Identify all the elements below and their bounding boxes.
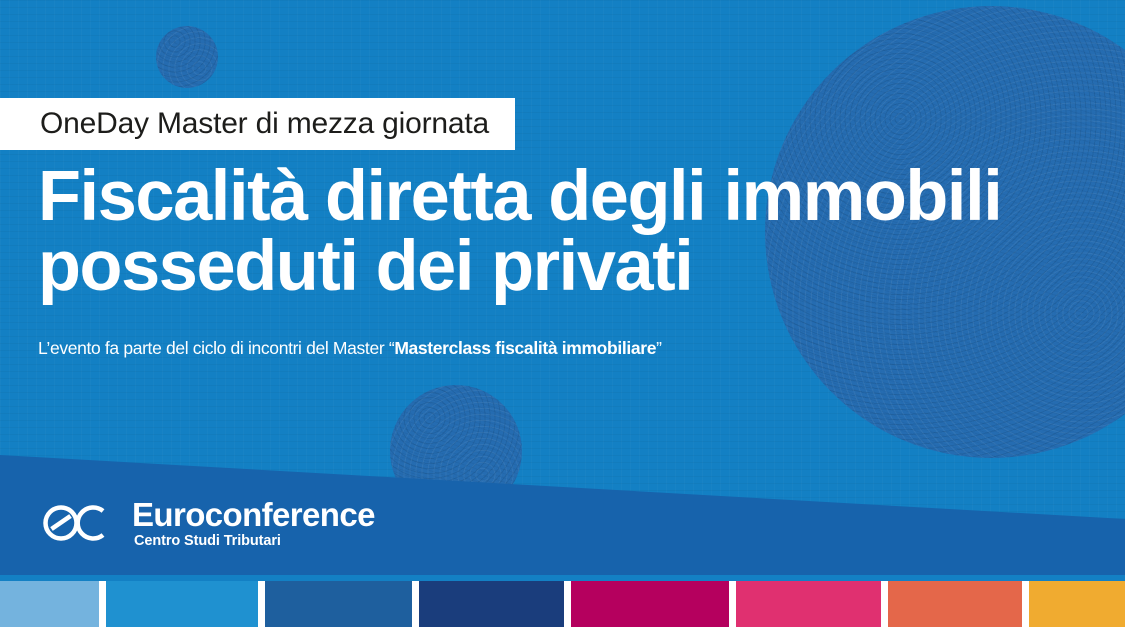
circle-grain-texture [156, 26, 218, 88]
swatch-orange [888, 581, 1022, 627]
swatch-light-blue [0, 581, 99, 627]
subtitle-prefix: L’evento fa parte del ciclo di incontri … [38, 338, 394, 358]
swatch-navy [419, 581, 564, 627]
eyebrow-label: OneDay Master di mezza giornata [40, 109, 489, 139]
decorative-circle-small-top [156, 26, 218, 88]
headline-line-2: posseduti dei privati [38, 232, 1078, 302]
headline-line-1: Fiscalità diretta degli immobili [38, 162, 1078, 232]
event-banner: OneDay Master di mezza giornata Fiscalit… [0, 0, 1125, 627]
logo-name: Euroconference [132, 498, 375, 532]
swatch-amber [1029, 581, 1125, 627]
logo-tagline: Centro Studi Tributari [134, 534, 375, 550]
page-title: Fiscalità diretta degli immobili possedu… [38, 162, 1088, 303]
logo-wordmark: Euroconference Centro Studi Tributari [132, 497, 375, 550]
subtitle-emphasis: Masterclass fiscalità immobiliare [394, 338, 656, 358]
swatch-medium-blue [265, 581, 412, 627]
ec-monogram-icon [40, 500, 118, 546]
subtitle: L’evento fa parte del ciclo di incontri … [38, 338, 662, 359]
swatch-magenta [571, 581, 729, 627]
eyebrow-box: OneDay Master di mezza giornata [0, 98, 515, 150]
euroconference-logo: Euroconference Centro Studi Tributari [40, 497, 375, 550]
swatch-blue [106, 581, 257, 627]
subtitle-suffix: ” [656, 338, 661, 358]
swatch-pink [736, 581, 881, 627]
color-bar [0, 581, 1125, 627]
